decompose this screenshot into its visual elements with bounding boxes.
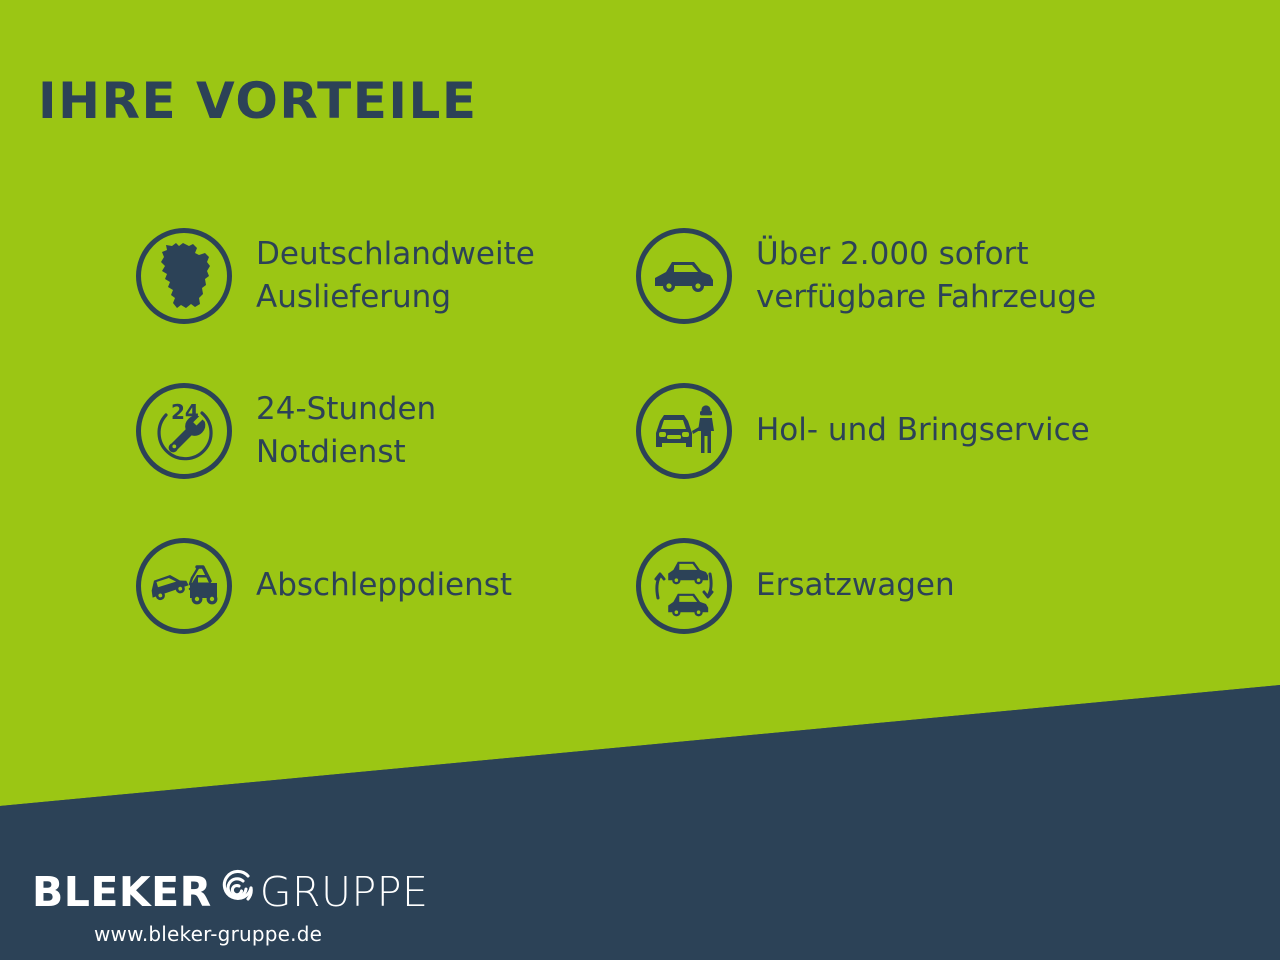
- benefit-item-deutschlandweite-auslieferung: Deutschlandweite Auslieferung: [136, 198, 636, 353]
- benefit-label: Hol- und Bringservice: [756, 409, 1090, 451]
- 24-hour-wrench-icon: 24: [150, 397, 218, 465]
- benefit-label: Ersatzwagen: [756, 564, 955, 606]
- germany-map-icon: [153, 241, 215, 311]
- company-logo[interactable]: BLEKER GRUPPE www.bleker-gruppe.de: [32, 868, 462, 946]
- car-with-driver-icon: [650, 403, 718, 459]
- logo-wordmark-row: BLEKER GRUPPE: [32, 868, 462, 916]
- benefit-icon-badge: [136, 538, 232, 634]
- logo-text-gruppe: GRUPPE: [260, 872, 429, 913]
- logo-text-bleker: BLEKER: [32, 872, 212, 913]
- benefit-item-verfuegbare-fahrzeuge: Über 2.000 sofort verfügbare Fahrzeuge: [636, 198, 1136, 353]
- benefit-item-ersatzwagen: Ersatzwagen: [636, 508, 1136, 663]
- benefit-label: Abschleppdienst: [256, 564, 512, 606]
- slide-canvas: IHRE VORTEILE Deutschlandweite Ausliefer…: [0, 0, 1280, 960]
- car-side-icon: [652, 256, 716, 296]
- benefit-item-hol-und-bringservice: Hol- und Bringservice: [636, 353, 1136, 508]
- page-title: IHRE VORTEILE: [38, 76, 477, 126]
- benefit-label: Über 2.000 sofort verfügbare Fahrzeuge: [756, 233, 1096, 318]
- benefits-grid: Deutschlandweite Auslieferung Über 2.000…: [136, 198, 1196, 663]
- spiral-logo-icon: [210, 860, 266, 916]
- website-url[interactable]: www.bleker-gruppe.de: [94, 922, 462, 946]
- benefit-item-24-stunden-notdienst: 24 24-Stunden Notdienst: [136, 353, 636, 508]
- benefit-icon-badge: [636, 383, 732, 479]
- tow-truck-icon: [148, 563, 220, 609]
- benefit-icon-badge: 24: [136, 383, 232, 479]
- car-exchange-icon: [648, 552, 720, 620]
- benefit-icon-badge: [636, 538, 732, 634]
- benefit-icon-badge: [636, 228, 732, 324]
- benefit-label: 24-Stunden Notdienst: [256, 388, 436, 473]
- benefit-item-abschleppdienst: Abschleppdienst: [136, 508, 636, 663]
- benefit-icon-badge: [136, 228, 232, 324]
- benefit-label: Deutschlandweite Auslieferung: [256, 233, 535, 318]
